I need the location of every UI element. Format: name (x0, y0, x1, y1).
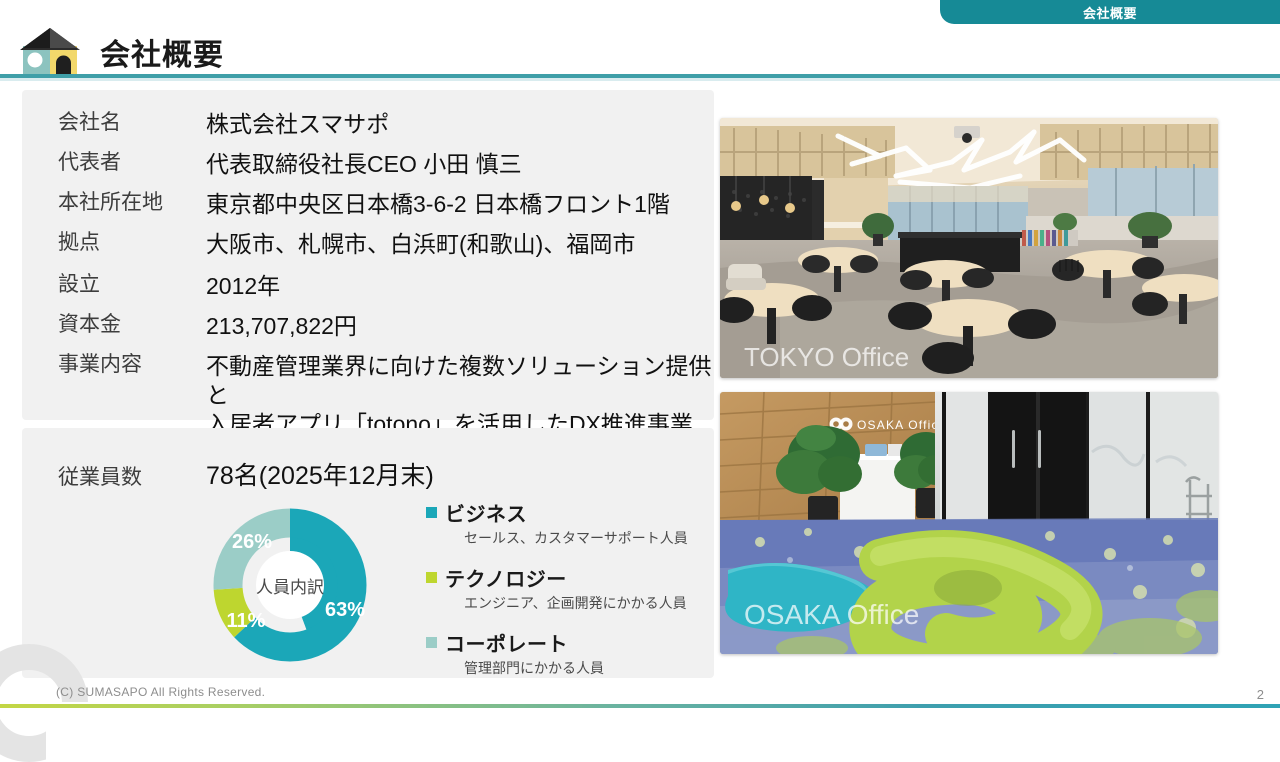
info-label: 設立 (58, 272, 206, 297)
svg-text:OSAKA Office: OSAKA Office (857, 418, 947, 432)
copyright-text: (C) SUMASAPO All Rights Reserved. (56, 685, 265, 699)
info-label: 資本金 (58, 312, 206, 337)
info-value: 大阪市、札幌市、白浜町(和歌山)、福岡市 (206, 230, 635, 259)
legend-swatch-business (426, 507, 437, 518)
tokyo-office-photo: TOKYO Office TOKYO Office (720, 118, 1218, 378)
legend-swatch-technology (426, 572, 437, 583)
employee-count-value: 78名(2025年12月末) (206, 456, 434, 492)
section-tab-label: 会社概要 (1083, 3, 1137, 22)
info-label: 拠点 (58, 230, 206, 255)
table-row: 資本金 213,707,822円 (58, 312, 357, 341)
house-icon (10, 24, 90, 78)
legend-label: ビジネス (445, 498, 527, 527)
osaka-office-photo: OSAKA Office (720, 392, 1218, 654)
legend-item: ビジネス セールス、カスタマーサポート人員 (426, 498, 716, 548)
table-row: 拠点 大阪市、札幌市、白浜町(和歌山)、福岡市 (58, 230, 635, 259)
employee-card: 従業員数 78名(2025年12月末) 63% 11% 26% 人員内訳 (22, 428, 714, 678)
info-value: 2012年 (206, 272, 280, 301)
info-value: 株式会社スマサポ (206, 110, 389, 139)
info-label: 本社所在地 (58, 190, 206, 215)
info-label: 事業内容 (58, 352, 206, 377)
info-value: 東京都中央区日本橋3-6-2 日本橋フロント1階 (206, 190, 670, 219)
svg-text:TOKYO Office: TOKYO Office (744, 342, 909, 372)
company-info-card: 会社名 株式会社スマサポ 代表者 代表取締役社長CEO 小田 慎三 本社所在地 … (22, 90, 714, 420)
section-tab[interactable]: 会社概要 (940, 0, 1280, 24)
page-title: 会社概要 (100, 30, 224, 74)
table-row: 設立 2012年 (58, 272, 280, 301)
legend-description: エンジニア、企画開発にかかる人員 (464, 593, 716, 613)
employee-count-row: 従業員数 78名(2025年12月末) (58, 456, 434, 492)
legend-label: コーポレート (445, 628, 568, 657)
legend-description: セールス、カスタマーサポート人員 (464, 528, 716, 548)
header-divider-soft (0, 78, 1280, 81)
staff-breakdown-donut-chart: 63% 11% 26% 人員内訳 (190, 500, 390, 670)
page-number: 2 (1257, 687, 1264, 702)
table-row: 会社名 株式会社スマサポ (58, 110, 389, 139)
info-label: 代表者 (58, 150, 206, 175)
svg-text:OSAKA Office: OSAKA Office (744, 599, 919, 630)
legend-swatch-corporate (426, 637, 437, 648)
info-value: 213,707,822円 (206, 312, 357, 341)
slide-header: 会社概要 (0, 24, 1280, 78)
svg-text:63%: 63% (325, 599, 365, 621)
footer-gradient-line (0, 704, 1280, 708)
chart-legend: ビジネス セールス、カスタマーサポート人員 テクノロジー エンジニア、企画開発に… (426, 498, 716, 693)
svg-text:26%: 26% (232, 531, 272, 553)
legend-label: テクノロジー (445, 563, 567, 592)
info-value: 代表取締役社長CEO 小田 慎三 (206, 150, 522, 179)
legend-item: コーポレート 管理部門にかかる人員 (426, 628, 716, 678)
svg-text:11%: 11% (227, 610, 266, 632)
employee-count-label: 従業員数 (58, 461, 206, 491)
table-row: 代表者 代表取締役社長CEO 小田 慎三 (58, 150, 522, 179)
legend-item: テクノロジー エンジニア、企画開発にかかる人員 (426, 563, 716, 613)
table-row: 本社所在地 東京都中央区日本橋3-6-2 日本橋フロント1階 (58, 190, 670, 219)
info-value: 不動産管理業界に向けた複数ソリューション提供と 入居者アプリ「totono」を活… (206, 352, 714, 438)
footer-decoration-mask (46, 702, 106, 762)
legend-description: 管理部門にかかる人員 (464, 658, 716, 678)
info-label: 会社名 (58, 110, 206, 135)
table-row: 事業内容 不動産管理業界に向けた複数ソリューション提供と 入居者アプリ「toto… (58, 352, 714, 438)
